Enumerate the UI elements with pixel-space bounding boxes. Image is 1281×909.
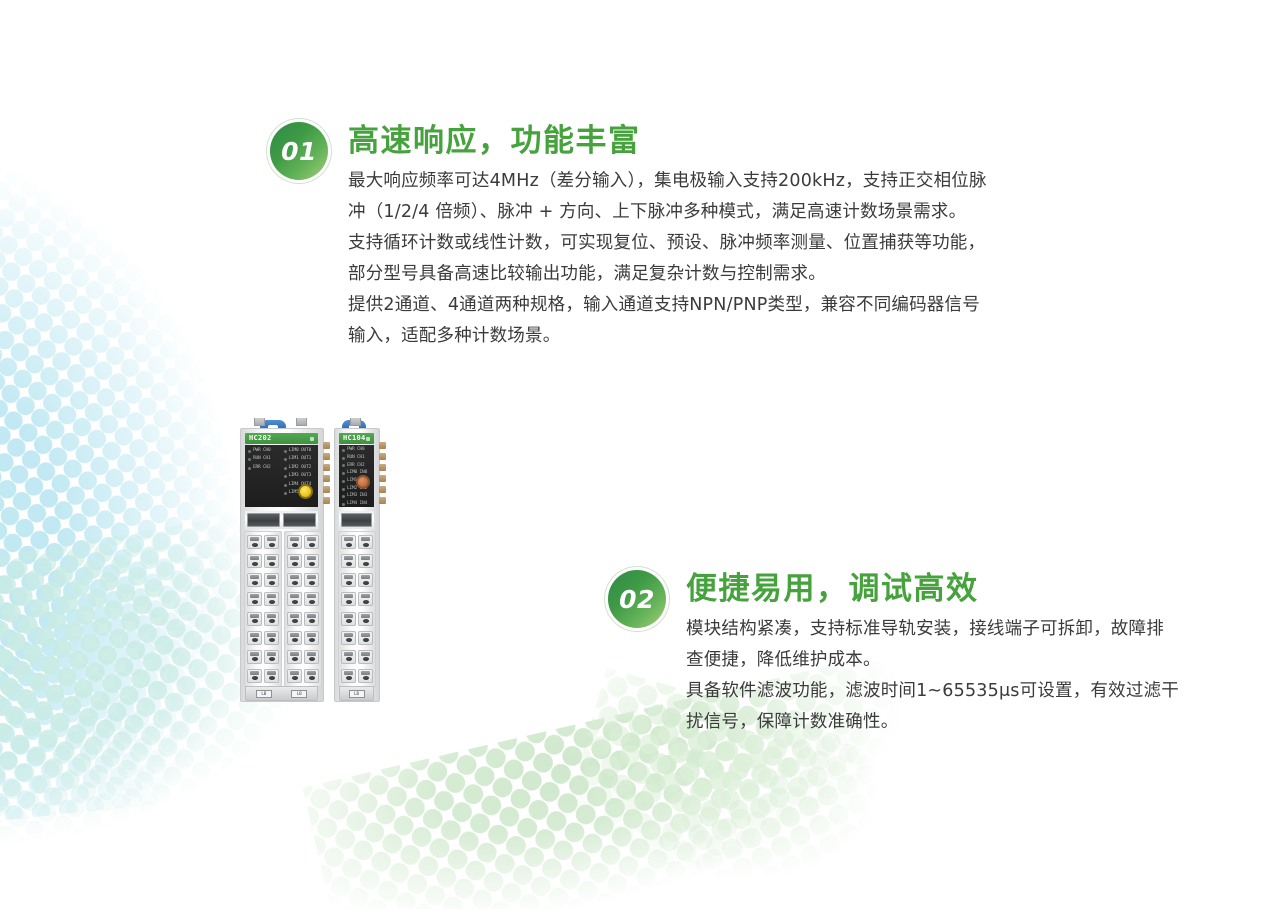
terminal-row: [287, 612, 319, 626]
feature-text-02: 模块结构紧凑，支持标准导轨安装，接线端子可拆卸，故障排 查便捷，降低维护成本。 …: [686, 614, 1179, 738]
terminal: [341, 573, 356, 587]
terminal: [247, 592, 262, 606]
label-marker: [310, 437, 314, 441]
led-dot-icon: [342, 480, 345, 483]
terminal: [341, 535, 356, 549]
feature-line: 提供2通道、4通道两种规格，输入通道支持NPN/PNP类型，兼容不同编码器信号: [348, 290, 987, 321]
led-label: LIM3 OUT3: [289, 474, 312, 479]
led-indicator-panel: PWR CH0 RUN CH1 ERR CH2: [245, 445, 318, 507]
led-label: LIM3 IN3: [347, 494, 367, 499]
feature-body-02: 便捷易用，调试高效 模块结构紧凑，支持标准导轨安装，接线端子可拆卸，故障排 查便…: [686, 570, 1179, 738]
terminal-row: [247, 650, 279, 664]
led-indicator-panel: PWR CH0 RUN CH1 ERR CH2 LIM0 IN: [339, 445, 374, 507]
led-row: LIM1 OUT1: [284, 457, 316, 463]
terminal-row: [287, 573, 319, 587]
terminal-row: [341, 535, 373, 549]
foot-chip: LB: [256, 690, 272, 698]
terminal: [358, 631, 373, 645]
terminal: [247, 554, 262, 568]
foot-chip-label: LB: [297, 692, 302, 696]
module-model-label: HC202: [249, 435, 272, 442]
terminal: [358, 650, 373, 664]
feature-line: 查便捷，降低维护成本。: [686, 645, 1179, 676]
terminal-row: [287, 592, 319, 606]
terminal: [287, 592, 302, 606]
terminal-row: [247, 554, 279, 568]
led-row: LIM2 OUT2: [284, 465, 316, 471]
led-dot-icon: [284, 475, 287, 478]
bus-pin: [379, 453, 386, 460]
feature-badge-number-01: 01: [281, 139, 317, 164]
feature-badge-02: 02: [608, 570, 666, 628]
terminal-row: [341, 631, 373, 645]
terminal: [304, 554, 319, 568]
terminal: [341, 612, 356, 626]
terminal-row: [247, 631, 279, 645]
terminal: [264, 535, 279, 549]
din-rail-tab: [296, 418, 307, 426]
led-label: LIM2 OUT2: [289, 466, 312, 471]
terminal-row: [341, 554, 373, 568]
connector-slot: [283, 513, 316, 527]
terminal: [287, 535, 302, 549]
led-dot-icon: [284, 492, 287, 495]
terminal-row: [341, 573, 373, 587]
terminal-row: [247, 573, 279, 587]
led-row: PWR CH0: [248, 448, 280, 454]
feature-text-01: 最大响应频率可达4MHz（差分输入），集电极输入支持200kHz，支持正交相位脉…: [348, 166, 987, 352]
led-dot-icon: [342, 464, 345, 467]
terminal: [304, 573, 319, 587]
terminal: [341, 554, 356, 568]
connector-slot: [341, 513, 372, 527]
feature-badge-01: 01: [270, 122, 328, 180]
terminal-block: [284, 531, 322, 687]
terminal-area: [338, 531, 375, 687]
led-dot-icon: [284, 458, 287, 461]
terminal-block: [338, 531, 376, 687]
led-row: RUN CH1: [248, 457, 280, 463]
terminal: [304, 592, 319, 606]
terminal: [287, 554, 302, 568]
foot-chip-label: LB: [261, 692, 266, 696]
feature-line: 扰信号，保障计数准确性。: [686, 707, 1179, 738]
feature-block-02: 02 便捷易用，调试高效 模块结构紧凑，支持标准导轨安装，接线端子可拆卸，故障排…: [608, 570, 1179, 738]
bus-pin: [323, 497, 330, 504]
bus-pin-strip: [379, 442, 386, 504]
led-dot-icon: [342, 472, 345, 475]
terminal: [358, 612, 373, 626]
led-label: ERR CH2: [253, 466, 271, 471]
terminal: [247, 631, 262, 645]
terminal: [247, 612, 262, 626]
terminal-row: [287, 631, 319, 645]
led-column-right: LIM0 OUT0 LIM1 OUT1 LIM2 OUT2 LI: [284, 448, 316, 507]
bus-pin: [379, 442, 386, 449]
led-row: LIM3 OUT3: [284, 474, 316, 480]
bus-pin: [323, 464, 330, 471]
terminal: [304, 650, 319, 664]
led-dot-icon: [248, 467, 251, 470]
led-dot-icon: [284, 450, 287, 453]
bus-pin-strip: [323, 442, 330, 504]
led-row: LIM3 IN3: [342, 494, 371, 499]
terminal: [358, 573, 373, 587]
terminal: [247, 669, 262, 683]
module-foot: LB: [339, 686, 374, 701]
terminal-row: [287, 669, 319, 683]
feature-title-01: 高速响应，功能丰富: [348, 124, 987, 160]
terminal-row: [247, 669, 279, 683]
led-label: PWR CH0: [347, 448, 365, 453]
terminal: [358, 592, 373, 606]
terminal-row: [247, 535, 279, 549]
terminal: [304, 631, 319, 645]
module-shell: HC202 PWR CH0 RUN CH1: [240, 428, 324, 702]
terminal: [264, 554, 279, 568]
led-dot-icon: [284, 467, 287, 470]
terminal: [358, 669, 373, 683]
terminal: [264, 650, 279, 664]
terminal: [247, 573, 262, 587]
led-row: LIM0 OUT0: [284, 448, 316, 454]
terminal: [247, 650, 262, 664]
terminal: [304, 612, 319, 626]
module-label-band: HC104: [339, 433, 374, 444]
led-dot-icon: [284, 484, 287, 487]
terminal: [264, 612, 279, 626]
led-label: ERR CH2: [347, 464, 365, 469]
feature-badge-number-02: 02: [619, 587, 655, 612]
feature-line: 部分型号具备高速比较输出功能，满足复杂计数与控制需求。: [348, 259, 987, 290]
led-label: LIM1 OUT1: [289, 457, 312, 462]
bus-pin: [323, 442, 330, 449]
led-dot-icon: [342, 488, 345, 491]
foot-chip: LB: [349, 690, 365, 698]
terminal-row: [247, 592, 279, 606]
bus-pin: [323, 475, 330, 482]
feature-block-01: 01 高速响应，功能丰富 最大响应频率可达4MHz（差分输入），集电极输入支持2…: [270, 122, 987, 352]
led-label: LIM0 OUT0: [289, 449, 312, 454]
terminal: [264, 573, 279, 587]
terminal: [304, 669, 319, 683]
foot-chip-label: LB: [354, 692, 359, 696]
led-row: PWR CH0: [342, 448, 371, 453]
led-dot-icon: [342, 503, 345, 506]
led-row: LIM4 IN4: [342, 502, 371, 507]
connector-slot-strip: [339, 511, 374, 529]
product-photo: HC202 PWR CH0 RUN CH1: [236, 420, 396, 705]
feature-title-02: 便捷易用，调试高效: [686, 572, 1179, 608]
terminal: [287, 573, 302, 587]
terminal-row: [247, 612, 279, 626]
led-dot-icon: [248, 450, 251, 453]
terminal: [264, 592, 279, 606]
terminal: [287, 650, 302, 664]
connector-slot-strip: [245, 511, 318, 529]
din-rail-tab: [350, 418, 361, 426]
terminal-area: [244, 531, 319, 687]
terminal: [358, 535, 373, 549]
rotary-knob-icon: [356, 475, 370, 489]
bus-pin: [323, 453, 330, 460]
foot-chip: LB: [291, 690, 307, 698]
terminal: [287, 631, 302, 645]
terminal: [287, 669, 302, 683]
bus-pin: [323, 486, 330, 493]
bus-pin: [379, 486, 386, 493]
led-label: RUN CH1: [253, 457, 271, 462]
feature-line: 具备软件滤波功能，滤波时间1~65535μs可设置，有效过滤干: [686, 676, 1179, 707]
led-row: ERR CH2: [342, 463, 371, 468]
feature-line: 输入，适配多种计数场景。: [348, 321, 987, 352]
led-dot-icon: [248, 458, 251, 461]
terminal: [341, 631, 356, 645]
led-label: PWR CH0: [253, 449, 271, 454]
feature-line: 冲（1/2/4 倍频）、脉冲 + 方向、上下脉冲多种模式，满足高速计数场景需求。: [348, 197, 987, 228]
led-dot-icon: [342, 495, 345, 498]
module-shell: HC104 PWR CH0 RUN CH1: [334, 428, 380, 702]
connector-slot: [247, 513, 280, 527]
din-rail-tab: [254, 418, 265, 426]
bus-pin: [379, 497, 386, 504]
terminal: [287, 612, 302, 626]
terminal-row: [341, 650, 373, 664]
feature-line: 支持循环计数或线性计数，可实现复位、预设、脉冲频率测量、位置捕获等功能，: [348, 228, 987, 259]
led-dot-icon: [342, 457, 345, 460]
terminal: [341, 650, 356, 664]
terminal: [264, 631, 279, 645]
led-row: ERR CH2: [248, 465, 280, 471]
rotary-knob-icon: [298, 484, 313, 499]
terminal: [247, 535, 262, 549]
label-marker: [366, 437, 370, 441]
terminal-row: [287, 650, 319, 664]
led-label: RUN CH1: [347, 456, 365, 461]
terminal-row: [287, 535, 319, 549]
feature-line: 最大响应频率可达4MHz（差分输入），集电极输入支持200kHz，支持正交相位脉: [348, 166, 987, 197]
terminal-row: [287, 554, 319, 568]
bus-pin: [379, 475, 386, 482]
feature-body-01: 高速响应，功能丰富 最大响应频率可达4MHz（差分输入），集电极输入支持200k…: [348, 122, 987, 352]
terminal: [264, 669, 279, 683]
led-column-left: PWR CH0 RUN CH1 ERR CH2: [248, 448, 280, 507]
terminal-block: [244, 531, 282, 687]
led-row: RUN CH1: [342, 456, 371, 461]
led-label: LIM4 IN4: [347, 502, 367, 507]
page-root: 01 高速响应，功能丰富 最大响应频率可达4MHz（差分输入），集电极输入支持2…: [0, 0, 1281, 909]
terminal: [341, 669, 356, 683]
terminal-row: [341, 669, 373, 683]
feature-line: 模块结构紧凑，支持标准导轨安装，接线端子可拆卸，故障排: [686, 614, 1179, 645]
led-dot-icon: [342, 449, 345, 452]
terminal-row: [341, 592, 373, 606]
module-model-label: HC104: [343, 435, 366, 442]
terminal: [304, 535, 319, 549]
terminal-row: [341, 612, 373, 626]
terminal: [358, 554, 373, 568]
bus-pin: [379, 464, 386, 471]
module-label-band: HC202: [245, 433, 318, 444]
terminal: [341, 592, 356, 606]
module-foot: LB LB: [245, 686, 318, 701]
